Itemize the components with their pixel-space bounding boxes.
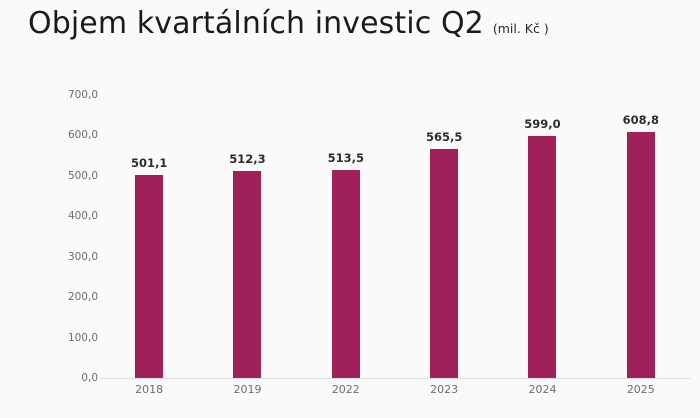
bar-value-label: 608,8 xyxy=(623,113,659,127)
bar[interactable]: 565,5 xyxy=(430,149,458,378)
bar-value-label: 501,1 xyxy=(131,156,167,170)
bar[interactable]: 512,3 xyxy=(233,171,261,378)
x-axis-tick-label: 2023 xyxy=(395,383,493,396)
x-axis-tick-label: 2018 xyxy=(100,383,198,396)
x-axis-tick-label: 2019 xyxy=(198,383,296,396)
y-axis-tick-label: 300,0 xyxy=(68,251,98,263)
bar[interactable]: 501,1 xyxy=(135,175,163,378)
y-axis-tick-label: 500,0 xyxy=(68,170,98,182)
bars-layer: 501,1512,3513,5565,5599,0608,8 xyxy=(100,95,690,378)
bar-slot: 512,3 xyxy=(198,95,296,378)
y-axis-tick-label: 0,0 xyxy=(81,372,98,384)
y-axis-tick-label: 400,0 xyxy=(68,210,98,222)
y-axis-tick-label: 200,0 xyxy=(68,291,98,303)
bar-chart: Objem kvartálních investic Q2 (mil. Kč )… xyxy=(0,0,700,418)
bar-slot: 599,0 xyxy=(493,95,591,378)
y-axis-tick-label: 100,0 xyxy=(68,332,98,344)
bar-slot: 565,5 xyxy=(395,95,493,378)
bar-slot: 513,5 xyxy=(297,95,395,378)
bar[interactable]: 608,8 xyxy=(627,132,655,378)
bar-value-label: 565,5 xyxy=(426,130,462,144)
bar[interactable]: 513,5 xyxy=(332,170,360,378)
bar-value-label: 512,3 xyxy=(229,152,265,166)
x-axis-tick-label: 2022 xyxy=(297,383,395,396)
x-axis-tick-labels: 201820192022202320242025 xyxy=(100,383,690,405)
y-axis-tick-label: 600,0 xyxy=(68,129,98,141)
x-axis-tick-label: 2025 xyxy=(592,383,690,396)
x-axis-line xyxy=(100,378,690,379)
bar[interactable]: 599,0 xyxy=(528,136,556,378)
bar-value-label: 513,5 xyxy=(328,151,364,165)
y-axis-tick-labels: 0,0100,0200,0300,0400,0500,0600,0700,0 xyxy=(44,95,98,385)
bar-slot: 501,1 xyxy=(100,95,198,378)
bar-value-label: 599,0 xyxy=(524,117,560,131)
bar-slot: 608,8 xyxy=(592,95,690,378)
plot-area: 0,0100,0200,0300,0400,0500,0600,0700,0 5… xyxy=(0,0,700,418)
x-axis-tick-label: 2024 xyxy=(493,383,591,396)
y-axis-tick-label: 700,0 xyxy=(68,89,98,101)
